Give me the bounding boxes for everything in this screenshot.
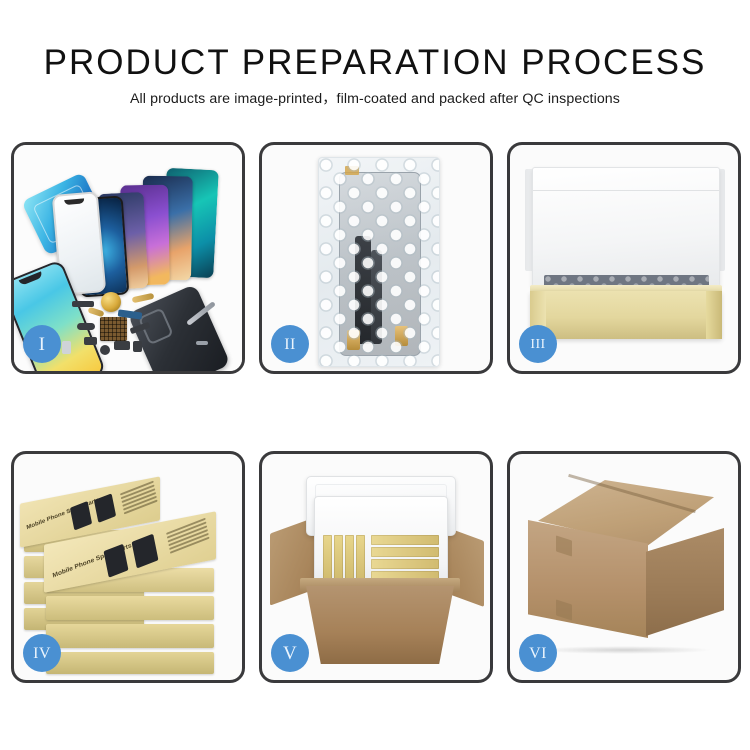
process-step-grid: I II (11, 142, 739, 698)
small-part-5 (114, 341, 130, 350)
process-step-5[interactable]: V (259, 451, 493, 683)
box-spec-lines-back (120, 481, 158, 517)
step-badge-4: IV (23, 634, 61, 672)
page-title: PRODUCT PREPARATION PROCESS (0, 0, 750, 82)
box-art-screen-4 (132, 534, 159, 569)
open-inner-box (522, 163, 728, 353)
small-part-4 (100, 345, 110, 355)
box-art-screen-2 (94, 493, 116, 523)
process-step-1[interactable]: I (11, 142, 245, 374)
open-shipping-carton (270, 474, 484, 666)
step-panel-2: II (259, 142, 493, 374)
bubble-wrap-bag (318, 157, 440, 367)
process-step-2[interactable]: II (259, 142, 493, 374)
step-panel-3: III (507, 142, 741, 374)
step-panel-6: VI (507, 451, 741, 683)
packed-box-h3 (371, 559, 439, 569)
small-part-2 (77, 323, 95, 330)
sim-tray (62, 341, 71, 354)
stacked-box-front-2 (46, 596, 214, 620)
packed-box-h1 (371, 535, 439, 545)
step-panel-4: Mobile Phone Spare Parts Mobile Phone Sp… (11, 451, 245, 683)
page-subtitle: All products are image-printed，film-coat… (0, 82, 750, 108)
step-badge-6: VI (519, 634, 557, 672)
stacked-box-front-4 (46, 652, 214, 674)
screw-part (196, 341, 208, 345)
cream-box-base (530, 291, 722, 339)
carton-shadow (536, 646, 712, 654)
process-step-3[interactable]: III (507, 142, 741, 374)
step-badge-2: II (271, 325, 309, 363)
box-spec-lines-front (166, 518, 210, 556)
small-part-1 (72, 301, 94, 307)
process-step-4[interactable]: Mobile Phone Spare Parts Mobile Phone Sp… (11, 451, 245, 683)
step-badge-3: III (519, 325, 557, 363)
small-part-3 (84, 337, 97, 345)
step-panel-5: V (259, 451, 493, 683)
stacked-box-front-3 (46, 624, 214, 648)
logic-board-chip (100, 317, 127, 341)
page-header: PRODUCT PREPARATION PROCESS All products… (0, 0, 750, 108)
packed-box-h2 (371, 547, 439, 557)
step-badge-5: V (271, 634, 309, 672)
white-foam-sheet (532, 167, 720, 287)
step-badge-1: I (23, 325, 61, 363)
bubble-texture (319, 158, 439, 366)
process-step-6[interactable]: VI (507, 451, 741, 683)
carton-body (306, 586, 454, 664)
sealed-shipping-carton (520, 480, 730, 660)
product-preparation-process-page: PRODUCT PREPARATION PROCESS All products… (0, 0, 750, 750)
step-panel-1: I (11, 142, 245, 374)
carton-side-face (646, 528, 724, 636)
small-part-7 (133, 341, 142, 352)
